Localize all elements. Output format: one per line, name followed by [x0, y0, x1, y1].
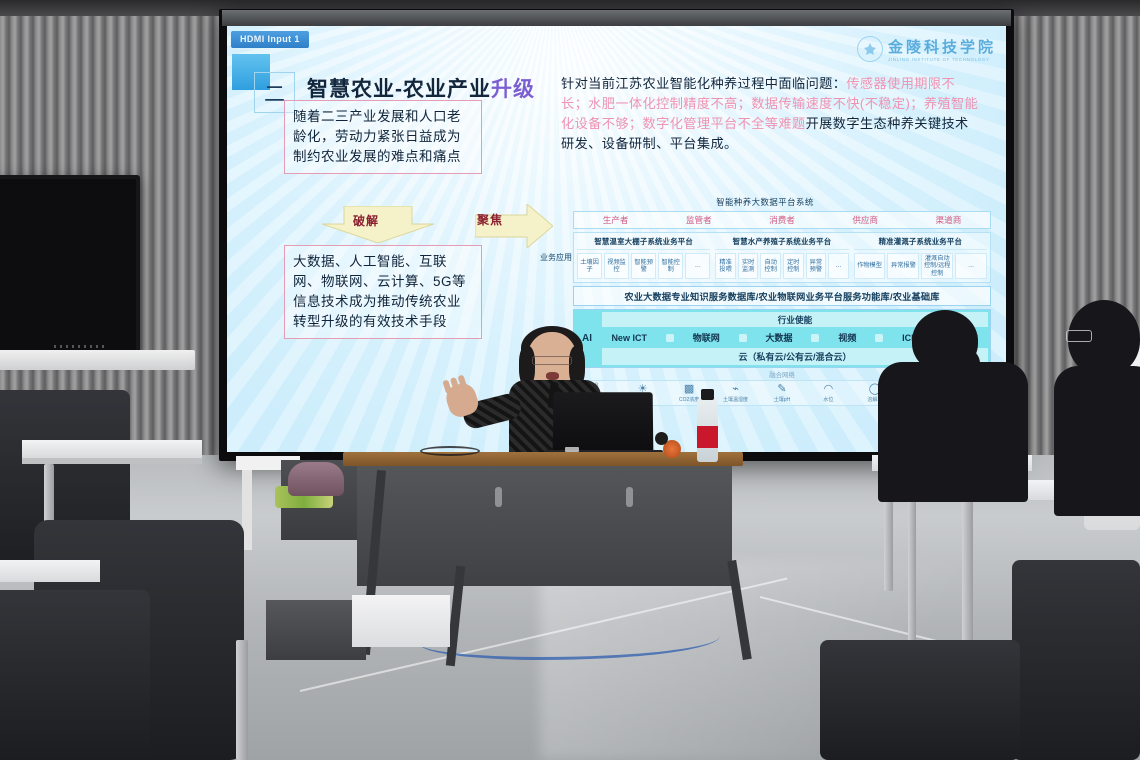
subsystem-title: 智慧水产养殖子系统业务平台: [715, 236, 848, 250]
lectern-front-panel: [357, 466, 732, 586]
student-glasses: [1066, 330, 1092, 342]
handbag: [288, 462, 344, 496]
subsystem-cell: …: [955, 253, 987, 279]
arrow-down-label: 破解: [353, 212, 379, 229]
subsystem-cell: 作物模型: [854, 253, 886, 279]
rear-white-board-panel: [352, 595, 450, 647]
subsystem-cell: 自动控制: [760, 253, 781, 279]
role-item: 渠道商: [907, 214, 990, 226]
university-crest-icon: [857, 36, 883, 62]
subsystem-cell: 异常预警: [806, 253, 827, 279]
business-application-layer: 业务应用 智慧温室大棚子系统业务平台 土壤因子 视频监控 智能预警 智能控制 …: [539, 232, 991, 283]
role-item: 消费者: [740, 214, 823, 226]
student-desk-left-rear: [22, 440, 202, 458]
separator-dot-icon: [811, 334, 819, 342]
cable-coil: [420, 446, 480, 456]
enable-item: 物联网: [693, 331, 720, 344]
context-box-2: 大数据、人工智能、互联网、物联网、云计算、5G等信息技术成为推动传统农业转型升级…: [284, 245, 482, 339]
separator-dot-icon: [666, 334, 674, 342]
student-torso: [1054, 366, 1140, 516]
context-box-1: 随着二三产业发展和人口老龄化，劳动力紧张日益成为制约农业发展的难点和痛点: [284, 100, 482, 174]
student-front-right: [876, 310, 1046, 510]
soil-probe-icon: ⌁: [712, 383, 758, 396]
subsystem-cell: 土壤因子: [577, 253, 602, 279]
bottle-label: [697, 426, 718, 448]
sensor-item: ⌁土壤温湿度: [712, 383, 758, 403]
subsystem-aquaculture: 智慧水产养殖子系统业务平台 精准投喂 实时监测 自动控制 定时控制 异常预警 …: [715, 236, 848, 279]
water-level-icon: ◠: [805, 383, 851, 396]
separator-dot-icon: [739, 334, 747, 342]
classroom-scene: HDMI Input 1 金陵科技学院 JINLING INSTITUTE OF…: [0, 0, 1140, 760]
chair-post: [236, 640, 248, 760]
subsystem-cell: 智能控制: [658, 253, 683, 279]
subsystem-cell: 灌溉自动控制/远程控制: [921, 253, 953, 279]
screen-top-frame: [222, 10, 1011, 26]
subsystem-cell: 定时控制: [783, 253, 804, 279]
roles-spacer: [539, 211, 573, 229]
subsystem-group: 智慧温室大棚子系统业务平台 土壤因子 视频监控 智能预警 智能控制 … 智慧水产…: [573, 232, 991, 283]
student-torso: [878, 362, 1028, 502]
subsystem-title: 智慧温室大棚子系统业务平台: [577, 236, 710, 250]
hdmi-input-badge: HDMI Input 1: [231, 31, 309, 48]
presenter-mouth: [546, 372, 559, 380]
chair-foreground-right[interactable]: [1012, 560, 1140, 760]
enable-item: 大数据: [766, 331, 793, 344]
sensor-label: 水位: [823, 397, 833, 403]
database-bar: 农业大数据专业知识服务数据库/农业物联网业务平台服务功能库/农业基础库: [573, 286, 991, 306]
subsystem-cell: …: [685, 253, 710, 279]
subsystem-cell: …: [828, 253, 849, 279]
rear-equipment-cart: [266, 600, 366, 660]
role-item: 生产者: [574, 214, 657, 226]
roles-row: 生产者 监管者 消费者 供应商 渠道商: [539, 211, 991, 229]
chair-foreground-bottom-left[interactable]: [0, 590, 150, 760]
slide-title: 智慧农业-农业产业升级: [307, 73, 535, 103]
sensor-label: 土壤温湿度: [723, 397, 748, 403]
sensor-label: 土壤pH: [774, 397, 790, 403]
student-desk-left-front: [0, 560, 100, 582]
subsystem-cell: 智能预警: [631, 253, 656, 279]
role-item: 供应商: [824, 214, 907, 226]
display-shelf: [0, 350, 195, 370]
stakeholder-roles: 生产者 监管者 消费者 供应商 渠道商: [573, 211, 991, 229]
ph-meter-icon: ✎: [759, 383, 805, 396]
subsystem-cell: 精准投喂: [715, 253, 736, 279]
presenter-glasses: [532, 356, 572, 365]
role-item: 监管者: [657, 214, 740, 226]
bottle-cap: [701, 389, 714, 400]
sensor-item: ✎土壤pH: [759, 383, 805, 403]
problem-statement-paragraph: 针对当前江苏农业智能化种养过程中面临问题：传感器使用期限不长；水肥一体化控制精度…: [561, 74, 979, 154]
subsystem-irrigation: 精准灌溉子系统业务平台 作物模型 异常报警 灌溉自动控制/远程控制 …: [854, 236, 987, 279]
enable-item: 视频: [838, 331, 856, 344]
lectern-handle[interactable]: [626, 487, 633, 507]
student-back-right: [1068, 300, 1140, 530]
slide-title-highlight: 升级: [491, 78, 535, 101]
laptop-screen[interactable]: [553, 392, 654, 454]
side-display[interactable]: [0, 175, 140, 355]
logo-text-cn: 金陵科技学院: [888, 36, 996, 57]
sensor-item: ◠水位: [805, 383, 851, 403]
lectern-handle[interactable]: [495, 487, 502, 507]
chair-foreground-center-right[interactable]: [820, 640, 1020, 760]
display-status-leds: [54, 345, 104, 348]
subsystem-cell: 异常报警: [887, 253, 919, 279]
enable-item: New ICT: [611, 333, 647, 343]
platform-title: 智能种养大数据平台系统: [539, 196, 991, 208]
small-black-device: [655, 432, 668, 445]
subsystem-cell: 视频监控: [604, 253, 629, 279]
lectern-desktop: [343, 452, 743, 466]
subsystem-greenhouse: 智慧温室大棚子系统业务平台 土壤因子 视频监控 智能预警 智能控制 …: [577, 236, 710, 279]
subsystem-title: 精准灌溉子系统业务平台: [854, 236, 987, 250]
problem-lead: 针对当前江苏农业智能化种养过程中面临问题：: [561, 76, 846, 91]
logo-text-en: JINLING INSTITUTE OF TECHNOLOGY: [888, 57, 996, 62]
university-logo: 金陵科技学院 JINLING INSTITUTE OF TECHNOLOGY: [857, 36, 996, 62]
subsystem-cell: 实时监测: [738, 253, 759, 279]
arrow-right-label: 聚焦: [477, 211, 503, 228]
slide-title-main: 智慧农业-农业产业: [307, 78, 491, 101]
business-layer-label: 业务应用: [539, 232, 573, 283]
